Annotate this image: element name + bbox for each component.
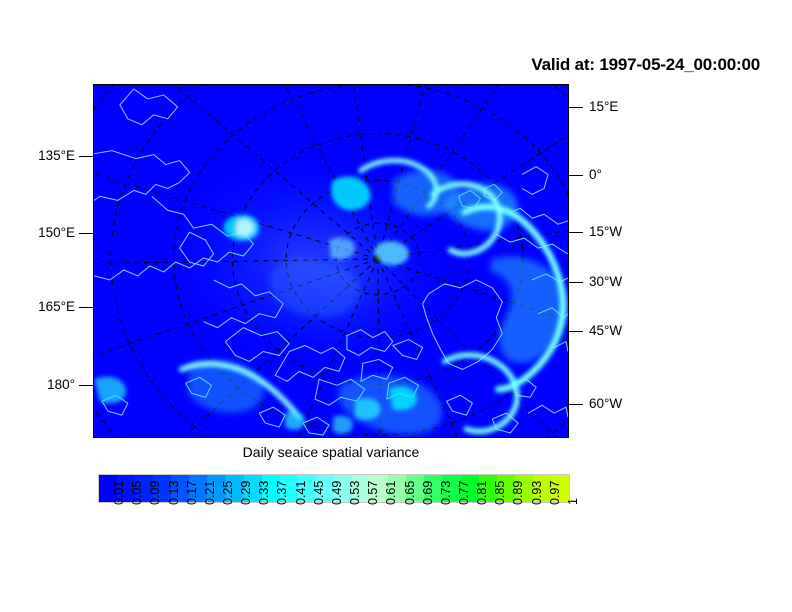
colorbar-tick-labels: 0.010.050.090.130.170.210.250.290.330.37… [98,505,570,565]
colorbar-tick-label-7: 0.29 [239,481,253,505]
figure-canvas: Valid at: 1997-05-24_00:00:00 [0,0,792,612]
colorbar-tick-label-25: 1 [566,498,580,505]
page-title: Valid at: 1997-05-24_00:00:00 [531,55,760,75]
tick-mark-right-0 [569,107,583,108]
axis-label-left-0: 135°E [0,148,75,163]
colorbar-tick-label-21: 0.85 [493,481,507,505]
colorbar-caption: Daily seaice spatial variance [93,444,569,460]
axis-label-right-5: 60°W [589,396,699,411]
axis-label-right-2: 15°W [589,224,699,239]
axis-label-right-1: 0° [589,167,699,182]
colorbar-tick-label-22: 0.89 [511,481,525,505]
colorbar-tick-label-24: 0.97 [548,481,562,505]
colorbar-tick-label-12: 0.49 [330,481,344,505]
tick-mark-right-5 [569,404,583,405]
colorbar-tick-label-8: 0.33 [257,481,271,505]
colorbar-tick-label-2: 0.09 [148,481,162,505]
colorbar-tick-label-15: 0.61 [384,481,398,505]
colorbar-tick-label-3: 0.13 [167,481,181,505]
colorbar-tick-label-14: 0.57 [366,481,380,505]
tick-mark-right-2 [569,232,583,233]
map-svg [94,85,568,437]
tick-mark-right-3 [569,282,583,283]
colorbar-tick-label-20: 0.81 [475,481,489,505]
axis-label-left-3: 180° [0,377,75,392]
colorbar-tick-label-1: 0.05 [130,481,144,505]
axis-label-left-1: 150°E [0,225,75,240]
tick-mark-right-1 [569,175,583,176]
axis-label-right-4: 45°W [589,323,699,338]
tick-mark-left-2 [79,307,93,308]
colorbar-tick-label-4: 0.17 [185,481,199,505]
colorbar-tick-label-18: 0.73 [439,481,453,505]
colorbar-tick-label-11: 0.45 [312,481,326,505]
tick-mark-left-0 [79,156,93,157]
axis-label-right-3: 30°W [589,274,699,289]
tick-mark-right-4 [569,331,583,332]
colorbar-tick-label-23: 0.93 [530,481,544,505]
colorbar-tick-label-5: 0.21 [203,481,217,505]
colorbar-tick-label-6: 0.25 [221,481,235,505]
colorbar-tick-label-0: 0.01 [112,481,126,505]
colorbar-tick-label-17: 0.69 [421,481,435,505]
tick-mark-left-3 [79,385,93,386]
colorbar-tick-label-9: 0.37 [275,481,289,505]
colorbar-tick-label-10: 0.41 [294,481,308,505]
tick-mark-left-1 [79,233,93,234]
axis-label-left-2: 165°E [0,299,75,314]
axis-label-right-0: 15°E [589,99,699,114]
colorbar-tick-label-16: 0.65 [403,481,417,505]
map-plot-area[interactable] [93,84,569,438]
colorbar-tick-label-19: 0.77 [457,481,471,505]
colorbar-tick-label-13: 0.53 [348,481,362,505]
